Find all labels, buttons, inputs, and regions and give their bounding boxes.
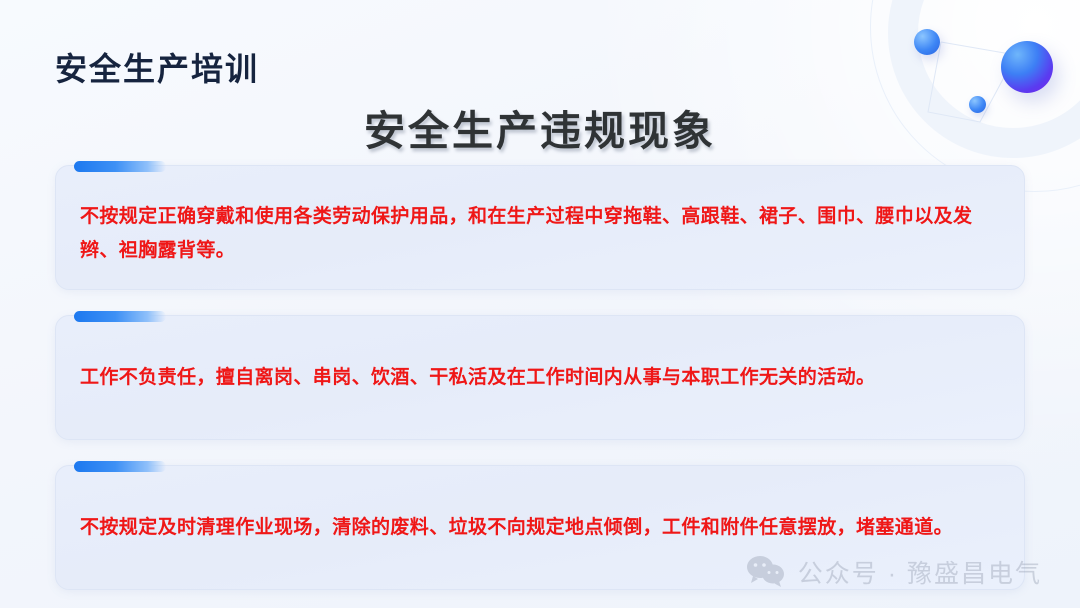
card-accent-bar [74,161,166,172]
violation-card-3-text: 不按规定及时清理作业现场，清除的废料、垃圾不向规定地点倾倒，工件和附件任意摆放，… [80,511,953,545]
card-accent-bar [74,461,166,472]
page-title: 安全生产违规现象 [0,97,1080,157]
violation-card-2: 工作不负责任，擅自离岗、串岗、饮酒、干私活及在工作时间内从事与本职工作无关的活动… [55,315,1025,440]
violation-card-3: 不按规定及时清理作业现场，清除的废料、垃圾不向规定地点倾倒，工件和附件任意摆放，… [55,465,1025,590]
gradient-sphere-medium-icon [914,29,940,55]
page-kicker: 安全生产培训 [55,44,259,90]
slide-root: 安全生产培训 安全生产违规现象 不按规定正确穿戴和使用各类劳动保护用品，和在生产… [0,0,1080,608]
violation-card-list: 不按规定正确穿戴和使用各类劳动保护用品，和在生产过程中穿拖鞋、高跟鞋、裙子、围巾… [55,165,1025,608]
violation-card-1-text: 不按规定正确穿戴和使用各类劳动保护用品，和在生产过程中穿拖鞋、高跟鞋、裙子、围巾… [80,200,1000,268]
decorative-arc-thin [870,0,1080,192]
card-accent-bar [74,311,166,322]
gradient-sphere-large-icon [1001,41,1053,93]
violation-card-1: 不按规定正确穿戴和使用各类劳动保护用品，和在生产过程中穿拖鞋、高跟鞋、裙子、围巾… [55,165,1025,290]
violation-card-2-text: 工作不负责任，擅自离岗、串岗、饮酒、干私活及在工作时间内从事与本职工作无关的活动… [80,361,875,395]
